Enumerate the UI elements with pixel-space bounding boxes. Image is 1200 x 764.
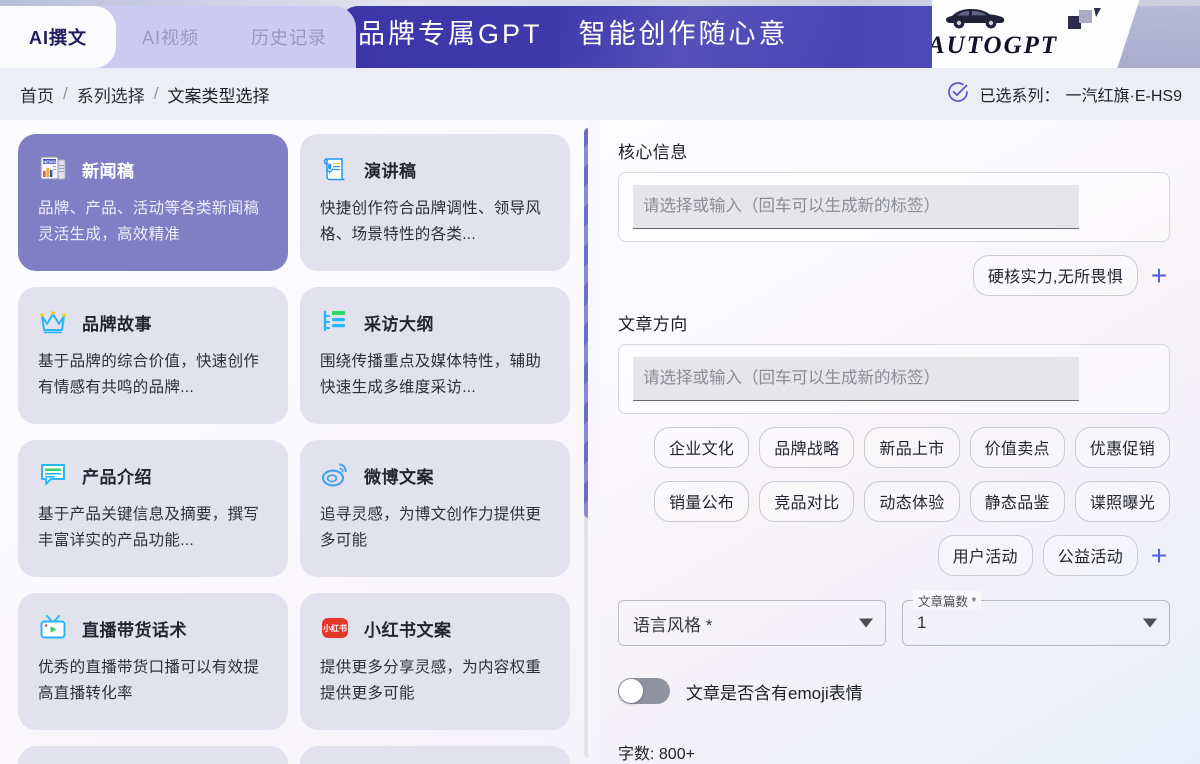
article-direction-chip-row-1: 企业文化 品牌战略 新品上市 价值卖点 优惠促销 — [618, 427, 1170, 468]
article-direction-field: 文章方向 企业文化 品牌战略 新品上市 价值卖点 优惠促销 销量公布 竞品对比 — [618, 310, 1184, 576]
card-title: 小红书文案 — [364, 616, 452, 641]
card-description: 基于产品关键信息及摘要，撰写丰富详实的产品功能... — [38, 502, 268, 554]
card-xiaohongshu-copy[interactable]: 小红书 小红书文案 提供更多分享灵感，为内容权重提供更多可能 — [300, 593, 570, 730]
breadcrumb-bar: 首页 / 系列选择 / 文案类型选择 已选系列： 一汽红旗·E-HS9 — [0, 68, 1200, 120]
core-info-field: 核心信息 硬核实力,无所畏惧 + — [618, 138, 1184, 296]
chip-direction-10[interactable]: 用户活动 — [938, 535, 1033, 576]
speech-bubble-icon — [38, 460, 68, 490]
chip-direction-4[interactable]: 优惠促销 — [1075, 427, 1170, 468]
tab-ai-writing-label: AI撰文 — [29, 24, 87, 50]
card-description: 优秀的直播带货口播可以有效提高直播转化率 — [38, 655, 268, 707]
selected-series: 已选系列： 一汽红旗·E-HS9 — [946, 80, 1182, 109]
main-body: NEWS — [0, 120, 1200, 764]
article-direction-chip-row-3: 用户活动 公益活动 + — [618, 535, 1170, 576]
card-livestream-script[interactable]: 直播带货话术 优秀的直播带货口播可以有效提高直播转化率 — [18, 593, 288, 730]
tv-play-icon — [38, 613, 68, 643]
card-title: 新闻稿 — [82, 157, 135, 182]
breadcrumb-separator: / — [154, 84, 159, 104]
card-title: 品牌故事 — [82, 310, 152, 335]
logo-slab: AUTOGPT — [932, 0, 1200, 68]
language-style-value: 语言风格 * — [633, 611, 712, 636]
card-description: 提供更多分享灵感，为内容权重提供更多可能 — [320, 655, 550, 707]
article-direction-chip-row-2: 销量公布 竞品对比 动态体验 静态品鉴 谍照曝光 — [618, 481, 1170, 522]
card-description: 品牌、产品、活动等各类新闻稿灵活生成，高效精准 — [38, 196, 268, 248]
scroll-mic-icon — [320, 154, 350, 184]
left-panel-scrollbar-thumb[interactable] — [584, 128, 588, 518]
tab-bar: AI撰文 AI视频 历史记录 — [0, 6, 353, 68]
core-info-input[interactable] — [633, 185, 1079, 229]
outline-list-icon — [320, 307, 350, 337]
newspaper-icon: NEWS — [38, 154, 68, 184]
svg-text:NEWS: NEWS — [43, 159, 56, 164]
breadcrumb: 首页 / 系列选择 / 文案类型选择 — [20, 82, 269, 107]
card-interview-outline[interactable]: 采访大纲 围绕传播重点及媒体特性，辅助快速生成多维度采访... — [300, 287, 570, 424]
core-info-chip-row: 硬核实力,无所畏惧 + — [618, 255, 1170, 296]
crown-icon — [38, 307, 68, 337]
card-weibo-copy[interactable]: 微博文案 追寻灵感，为博文创作力提供更多可能 — [300, 440, 570, 577]
article-count-value: 1 — [917, 613, 926, 633]
chip-direction-9[interactable]: 谍照曝光 — [1075, 481, 1170, 522]
article-count-select[interactable]: 文章篇数 * 1 — [902, 600, 1170, 646]
weibo-icon — [320, 460, 350, 490]
chevron-down-icon — [1143, 619, 1157, 628]
chip-direction-1[interactable]: 品牌战略 — [759, 427, 854, 468]
chip-direction-5[interactable]: 销量公布 — [654, 481, 749, 522]
article-direction-tagbox[interactable] — [618, 344, 1170, 414]
emoji-toggle-row: 文章是否含有emoji表情 — [618, 678, 1184, 704]
chip-direction-8[interactable]: 静态品鉴 — [970, 481, 1065, 522]
app-root: 品牌专属GPT智能创作随心意 — [0, 0, 1200, 764]
copy-type-list-panel: NEWS — [0, 120, 588, 764]
emoji-toggle[interactable] — [618, 678, 670, 704]
selected-series-label: 已选系列： — [980, 82, 1060, 106]
chip-core-info-0[interactable]: 硬核实力,无所畏惧 — [973, 255, 1138, 296]
selected-series-value: 一汽红旗·E-HS9 — [1066, 82, 1182, 106]
word-count-text: 字数: 800+ — [618, 740, 1184, 764]
card-title: 演讲稿 — [364, 157, 417, 182]
plus-icon[interactable]: + — [1148, 546, 1170, 566]
form-selects: 语言风格 * 文章篇数 * 1 — [618, 600, 1184, 646]
copy-type-card-grid: NEWS — [18, 134, 570, 764]
article-direction-label: 文章方向 — [618, 310, 1184, 335]
card-title: 采访大纲 — [364, 310, 434, 335]
card-product-intro[interactable]: 产品介绍 基于产品关键信息及摘要，撰写丰富详实的产品功能... — [18, 440, 288, 577]
breadcrumb-item-copy-type[interactable]: 文案类型选择 — [167, 82, 269, 107]
tab-ai-writing[interactable]: AI撰文 — [0, 6, 116, 68]
logo-wordmark: AUTOGPT — [932, 32, 1058, 60]
breadcrumb-separator: / — [63, 84, 68, 104]
squares-mark-icon — [1068, 8, 1102, 39]
breadcrumb-item-series[interactable]: 系列选择 — [77, 82, 145, 107]
article-count-legend: 文章篇数 * — [913, 591, 981, 610]
xiaohongshu-icon: 小红书 — [320, 613, 350, 643]
card-description: 快捷创作符合品牌调性、领导风格、场景特性的各类... — [320, 196, 550, 248]
card-description: 追寻灵感，为博文创作力提供更多可能 — [320, 502, 550, 554]
chip-direction-0[interactable]: 企业文化 — [654, 427, 749, 468]
banner-title-part1: 品牌专属GPT — [358, 19, 543, 49]
plus-icon[interactable]: + — [1148, 266, 1170, 286]
chip-direction-2[interactable]: 新品上市 — [864, 427, 959, 468]
left-panel-scrollbar-track[interactable] — [584, 128, 588, 758]
car-icon — [944, 6, 1006, 35]
card-title: 直播带货话术 — [82, 616, 187, 641]
tab-history-label: 历史记录 — [251, 24, 327, 50]
core-info-label: 核心信息 — [618, 138, 1184, 163]
core-info-tagbox[interactable] — [618, 172, 1170, 242]
tab-history[interactable]: 历史记录 — [225, 6, 353, 68]
chip-direction-7[interactable]: 动态体验 — [864, 481, 959, 522]
top-banner: 品牌专属GPT智能创作随心意 — [0, 0, 1200, 68]
logo[interactable]: AUTOGPT — [932, 4, 1116, 66]
card-zhihu-copy[interactable]: 知 知乎短文案 — [18, 746, 288, 764]
banner-title-part2: 智能创作随心意 — [579, 19, 789, 49]
settings-form-panel: 核心信息 硬核实力,无所畏惧 + 文章方向 — [600, 120, 1200, 764]
language-style-select[interactable]: 语言风格 * — [618, 600, 886, 646]
card-speech-draft[interactable]: 演讲稿 快捷创作符合品牌调性、领导风格、场景特性的各类... — [300, 134, 570, 271]
tab-ai-video-label: AI视频 — [142, 24, 199, 50]
card-description: 围绕传播重点及媒体特性，辅助快速生成多维度采访... — [320, 349, 550, 401]
article-direction-input[interactable] — [633, 357, 1079, 401]
check-circle-icon — [946, 80, 970, 109]
card-title: 微博文案 — [364, 463, 434, 488]
breadcrumb-item-home[interactable]: 首页 — [20, 82, 54, 107]
tab-ai-video[interactable]: AI视频 — [116, 6, 225, 68]
card-title: 产品介绍 — [82, 463, 152, 488]
emoji-toggle-knob — [619, 679, 643, 703]
card-description: 基于品牌的综合价值，快速创作有情感有共鸣的品牌... — [38, 349, 268, 401]
svg-text:小红书: 小红书 — [322, 623, 347, 633]
chip-direction-6[interactable]: 竞品对比 — [759, 481, 854, 522]
card-brand-story[interactable]: 品牌故事 基于品牌的综合价值，快速创作有情感有共鸣的品牌... — [18, 287, 288, 424]
banner-title: 品牌专属GPT智能创作随心意 — [358, 12, 789, 56]
chevron-down-icon — [859, 619, 873, 628]
card-wechat-mp-copy[interactable]: 公众号文案 — [300, 746, 570, 764]
chip-direction-11[interactable]: 公益活动 — [1043, 535, 1138, 576]
emoji-toggle-label: 文章是否含有emoji表情 — [686, 679, 863, 704]
card-news-release[interactable]: NEWS — [18, 134, 288, 271]
chip-direction-3[interactable]: 价值卖点 — [970, 427, 1065, 468]
